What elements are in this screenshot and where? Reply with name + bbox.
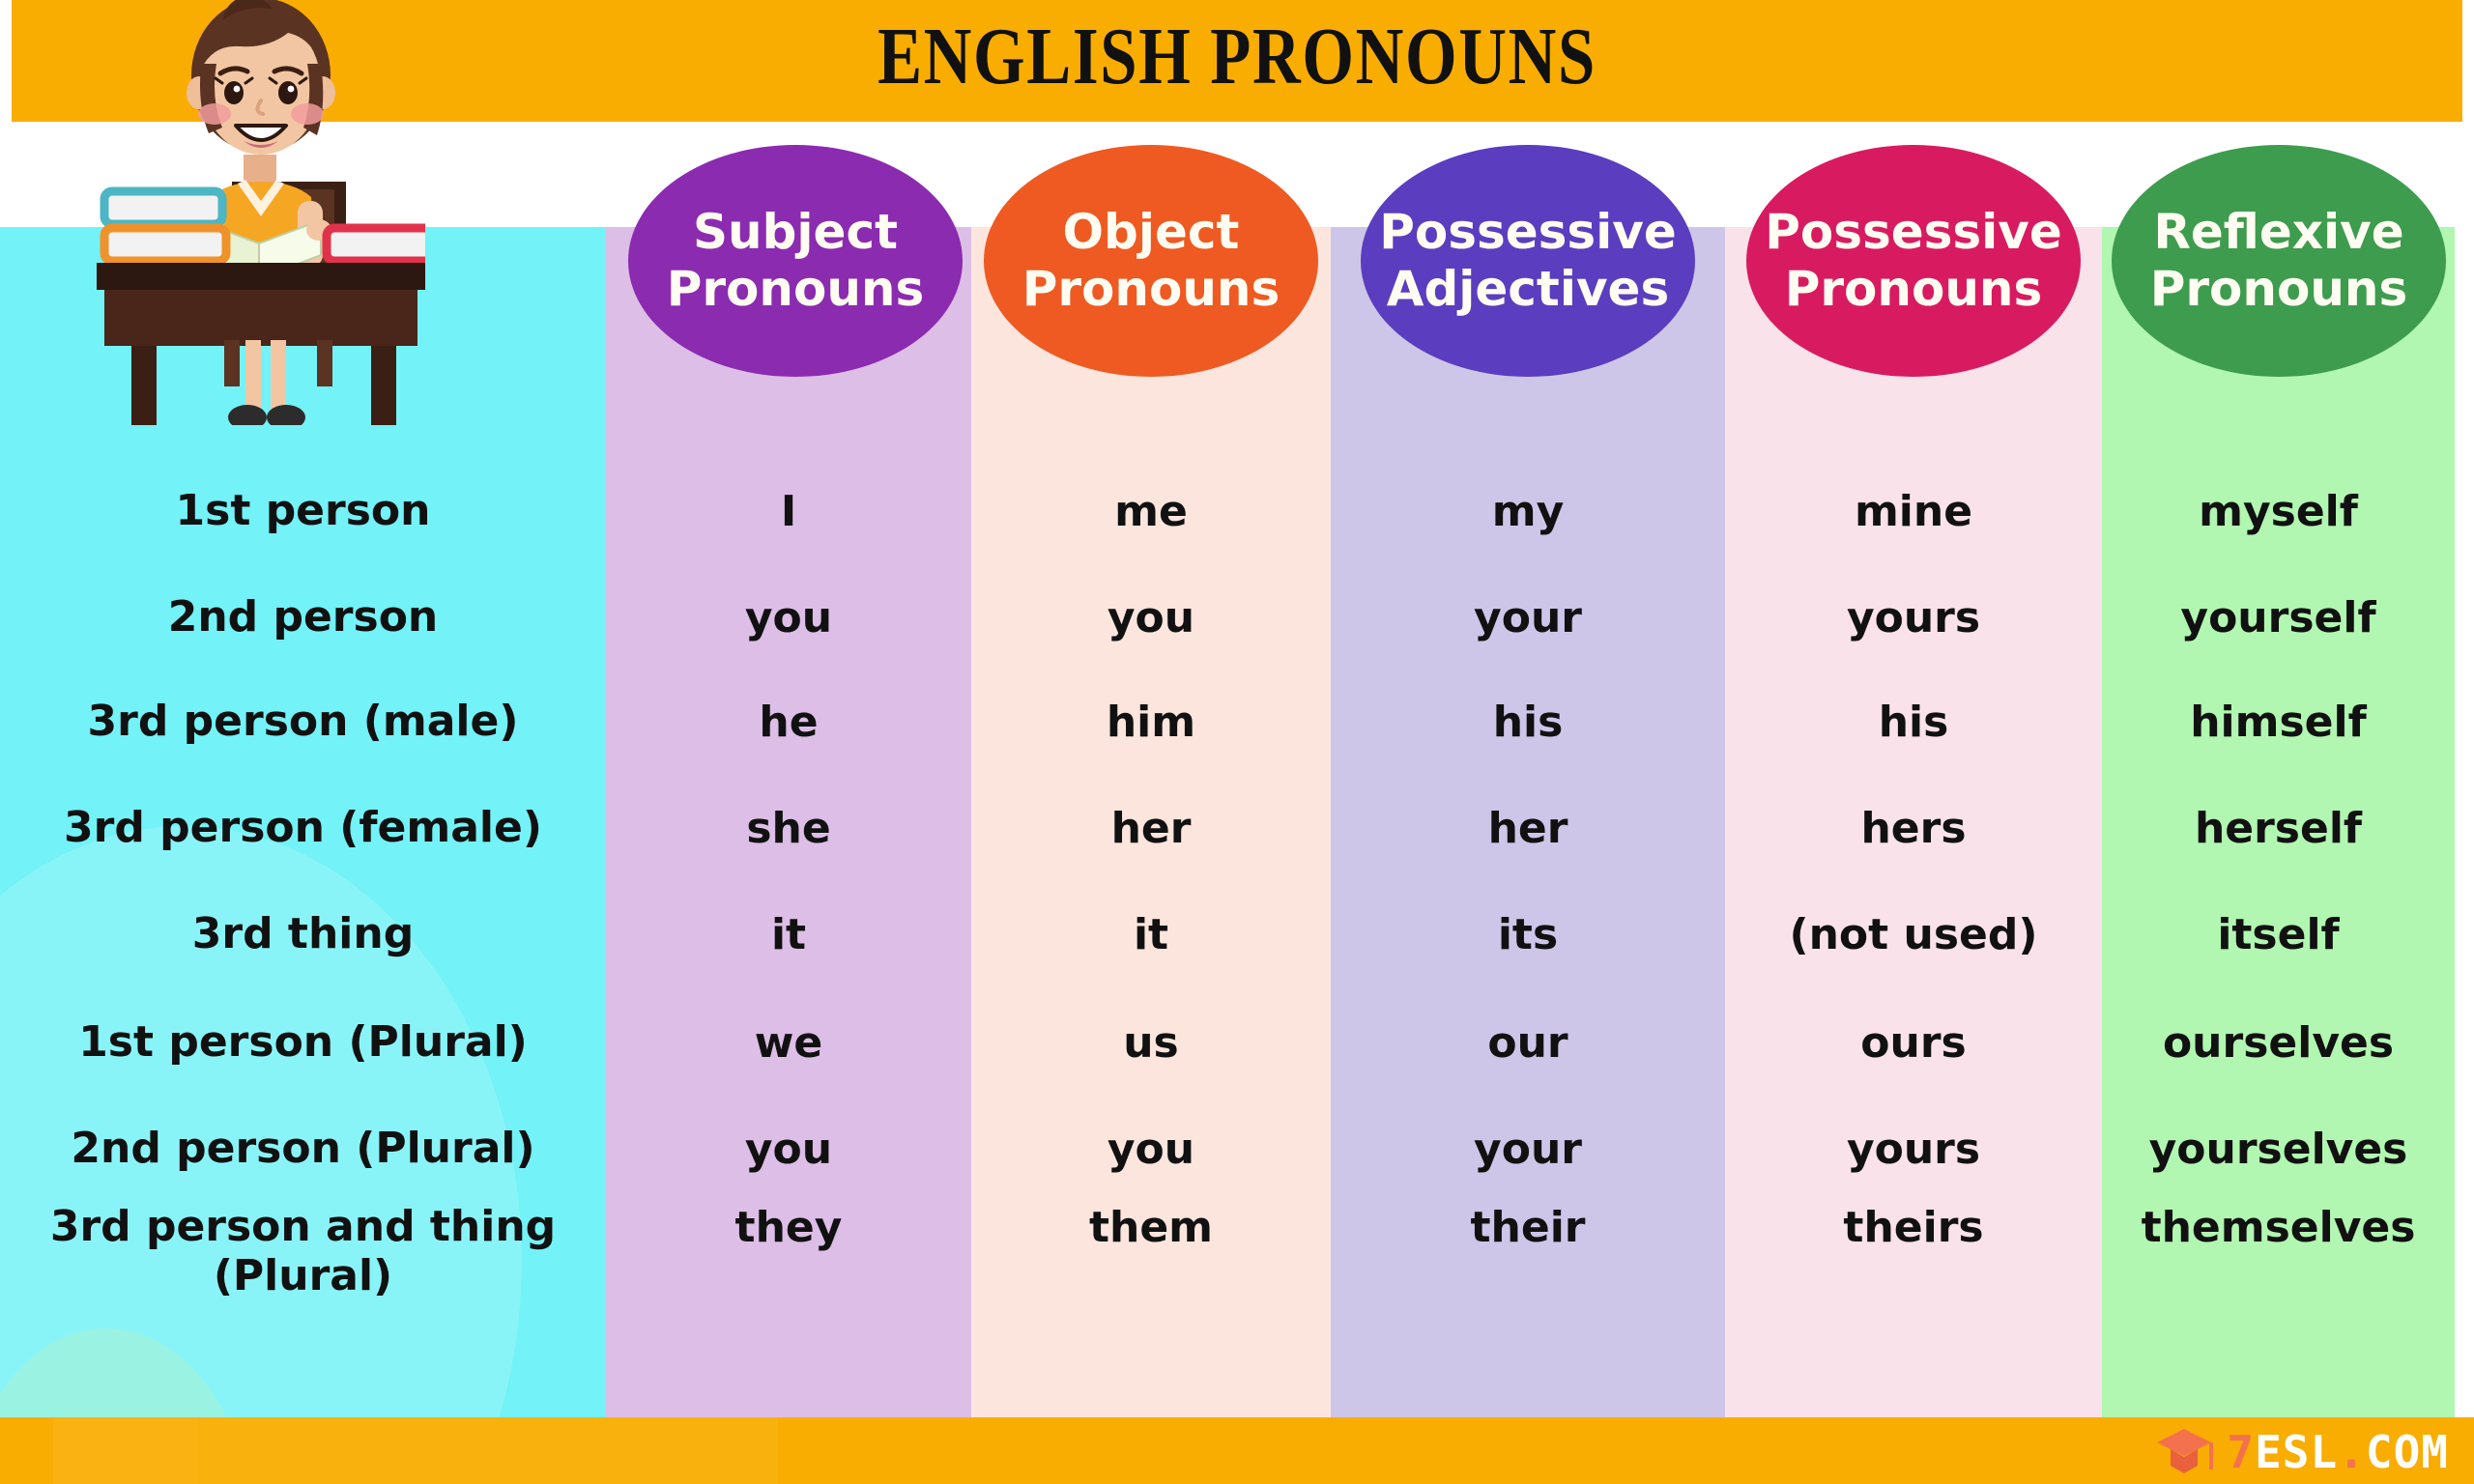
row-label: 3rd thing <box>0 910 606 959</box>
cell-reflexive-pronoun: yourselves <box>2102 1125 2455 1174</box>
cell-possessive-adjective: your <box>1331 593 1725 642</box>
cell-possessive-adjective: his <box>1331 698 1725 747</box>
logo-prefix: 7 <box>2227 1426 2255 1478</box>
footer-decoration-a <box>53 1417 198 1484</box>
logo-suffix: COM <box>2366 1426 2449 1478</box>
table-row: 1st person I me my mine myself <box>0 461 2455 561</box>
cell-reflexive-pronoun: yourself <box>2102 593 2455 642</box>
row-label: 3rd person and thing (Plural) <box>0 1203 606 1300</box>
row-label: 2nd person (Plural) <box>0 1125 606 1174</box>
cell-possessive-adjective: her <box>1331 804 1725 853</box>
cell-possessive-pronoun: hers <box>1725 804 2102 853</box>
column-header-line2: Pronouns <box>2150 261 2408 318</box>
cell-possessive-pronoun: yours <box>1725 593 2102 642</box>
cell-subject-pronoun: I <box>606 487 971 536</box>
column-header-line1: Reflexive <box>2153 204 2403 261</box>
cell-object-pronoun: you <box>971 593 1331 642</box>
cell-subject-pronoun: you <box>606 593 971 642</box>
cell-possessive-adjective: our <box>1331 1018 1725 1068</box>
column-header-line2: Pronouns <box>1785 261 2043 318</box>
row-label: 1st person <box>0 487 606 536</box>
cell-possessive-pronoun: theirs <box>1725 1203 2102 1252</box>
footer-decoration-b <box>198 1417 778 1484</box>
cell-subject-pronoun: it <box>606 910 971 959</box>
column-header-line2: Adjectives <box>1387 261 1669 318</box>
table-row: 3rd thing it it its (not used) itself <box>0 886 2455 983</box>
cell-possessive-adjective: its <box>1331 910 1725 959</box>
cell-object-pronoun: her <box>971 804 1331 853</box>
row-label: 1st person (Plural) <box>0 1018 606 1068</box>
cell-possessive-adjective: your <box>1331 1125 1725 1174</box>
column-header-subject-pronouns[interactable]: Subject Pronouns <box>628 145 963 377</box>
cell-possessive-pronoun: (not used) <box>1725 910 2102 959</box>
cell-subject-pronoun: he <box>606 698 971 747</box>
cell-object-pronoun: them <box>971 1203 1331 1252</box>
column-header-possessive-pronouns[interactable]: Possessive Pronouns <box>1746 145 2081 377</box>
cell-object-pronoun: me <box>971 487 1331 536</box>
graduation-cap-icon <box>2155 1427 2213 1477</box>
column-header-line1: Possessive <box>1765 204 2062 261</box>
cell-reflexive-pronoun: itself <box>2102 910 2455 959</box>
pronouns-infographic: ENGLISH PRONOUNS <box>0 0 2474 1484</box>
cell-reflexive-pronoun: herself <box>2102 804 2455 853</box>
table-row: 1st person (Plural) we us our ours ourse… <box>0 994 2455 1091</box>
cell-possessive-adjective: their <box>1331 1203 1725 1252</box>
row-label: 3rd person (male) <box>0 698 606 747</box>
column-header-object-pronouns[interactable]: Object Pronouns <box>984 145 1318 377</box>
cell-object-pronoun: us <box>971 1018 1331 1068</box>
cell-reflexive-pronoun: themselves <box>2102 1203 2455 1252</box>
cell-object-pronoun: him <box>971 698 1331 747</box>
cell-subject-pronoun: you <box>606 1125 971 1174</box>
column-header-line1: Subject <box>693 204 898 261</box>
cell-subject-pronoun: we <box>606 1018 971 1068</box>
logo-main: ESL <box>2255 1426 2338 1478</box>
cell-possessive-pronoun: yours <box>1725 1125 2102 1174</box>
cell-possessive-pronoun: ours <box>1725 1018 2102 1068</box>
table-row: 3rd person and thing (Plural) they them … <box>0 1203 2455 1328</box>
column-header-line1: Possessive <box>1379 204 1677 261</box>
table-row: 3rd person (female) she her her hers her… <box>0 780 2455 876</box>
girl-reading-at-desk-illustration <box>97 0 425 425</box>
page-title: ENGLISH PRONOUNS <box>222 0 2251 122</box>
cell-possessive-pronoun: mine <box>1725 487 2102 536</box>
row-label: 2nd person <box>0 593 606 642</box>
table-row: 2nd person you you your yours yourself <box>0 567 2455 668</box>
logo-text: 7ESL.COM <box>2227 1430 2449 1474</box>
table-row: 2nd person (Plural) you you your yours y… <box>0 1100 2455 1197</box>
cell-reflexive-pronoun: himself <box>2102 698 2455 747</box>
column-header-line2: Pronouns <box>1022 261 1280 318</box>
cell-possessive-adjective: my <box>1331 487 1725 536</box>
cell-reflexive-pronoun: ourselves <box>2102 1018 2455 1068</box>
site-logo[interactable]: 7ESL.COM <box>2155 1427 2449 1477</box>
column-header-line1: Object <box>1063 204 1240 261</box>
column-header-possessive-adjectives[interactable]: Possessive Adjectives <box>1361 145 1695 377</box>
pronouns-table: 1st person I me my mine myself 2nd perso… <box>0 382 2455 1417</box>
logo-dot: . <box>2338 1426 2366 1478</box>
cell-subject-pronoun: they <box>606 1203 971 1252</box>
table-row: 3rd person (male) he him his his himself <box>0 673 2455 770</box>
column-header-reflexive-pronouns[interactable]: Reflexive Pronouns <box>2112 145 2446 377</box>
cell-subject-pronoun: she <box>606 804 971 853</box>
cell-possessive-pronoun: his <box>1725 698 2102 747</box>
column-header-line2: Pronouns <box>667 261 925 318</box>
cell-object-pronoun: you <box>971 1125 1331 1174</box>
cell-reflexive-pronoun: myself <box>2102 487 2455 536</box>
row-label: 3rd person (female) <box>0 804 606 853</box>
cell-object-pronoun: it <box>971 910 1331 959</box>
